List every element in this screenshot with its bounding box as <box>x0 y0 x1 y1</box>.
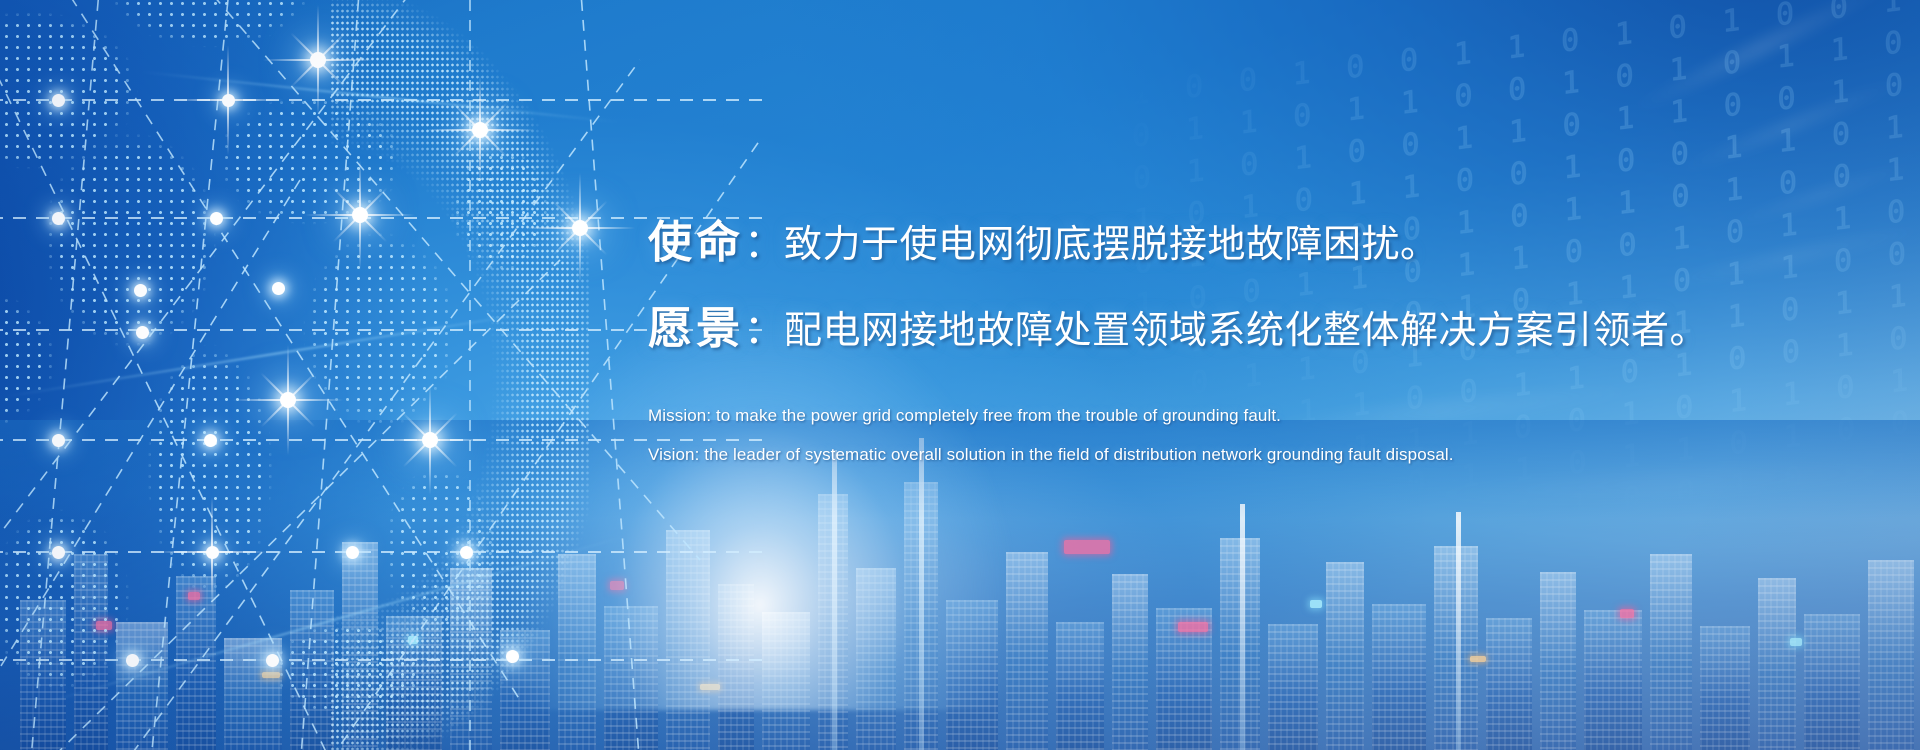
network-node <box>206 546 219 559</box>
network-node <box>280 392 296 408</box>
mission-text: 致力于使电网彻底摆脱接地故障困扰。 <box>784 222 1439 266</box>
network-node <box>52 546 65 559</box>
network-node <box>52 94 65 107</box>
hero-copy-block: 使命：致力于使电网彻底摆脱接地故障困扰。 愿景：配电网接地故障处置领域系统化整体… <box>648 206 1908 465</box>
hero-banner: 1 0 0 1 0 1 1 0 0 1 0 0 1 1 0 1 0 1 0 0 … <box>0 0 1920 750</box>
network-node <box>352 207 368 223</box>
vision-statement-line: 愿景：配电网接地故障处置领域系统化整体解决方案引领者。 <box>648 292 1908 356</box>
network-node <box>506 650 519 663</box>
vision-label: 愿景 <box>648 303 744 354</box>
vision-colon: ： <box>744 307 784 353</box>
network-node <box>52 212 65 225</box>
network-graph <box>0 0 760 750</box>
vision-text: 配电网接地故障处置领域系统化整体解决方案引领者。 <box>784 308 1708 352</box>
network-node <box>210 212 223 225</box>
network-node <box>572 220 588 236</box>
mission-statement-english: Mission: to make the power grid complete… <box>648 406 1908 426</box>
network-node <box>422 432 438 448</box>
mission-label: 使命 <box>648 217 744 268</box>
network-node <box>310 52 326 68</box>
network-node <box>222 94 235 107</box>
network-node <box>346 546 359 559</box>
network-node <box>472 122 488 138</box>
network-node <box>52 434 65 447</box>
network-node <box>136 326 149 339</box>
network-node <box>272 282 285 295</box>
network-node <box>204 434 217 447</box>
mission-statement-line: 使命：致力于使电网彻底摆脱接地故障困扰。 <box>648 206 1908 270</box>
network-node <box>266 654 279 667</box>
cloud-wisp <box>1667 72 1913 181</box>
network-node <box>134 284 147 297</box>
network-node <box>460 546 473 559</box>
network-node <box>126 654 139 667</box>
mission-colon: ： <box>744 221 784 267</box>
vision-statement-english: Vision: the leader of systematic overall… <box>648 445 1908 465</box>
